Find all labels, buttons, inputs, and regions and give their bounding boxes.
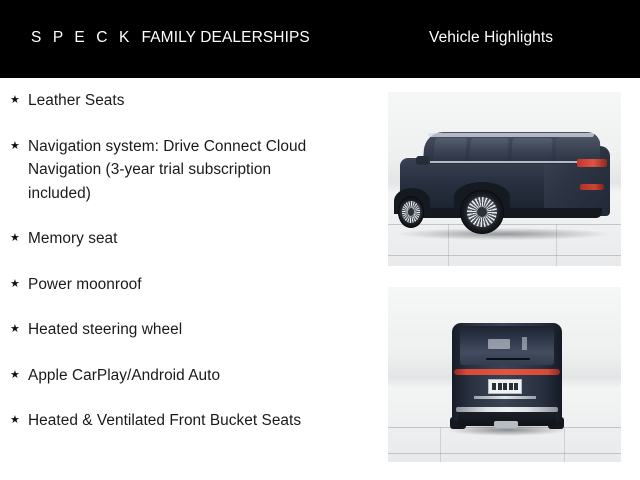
star-bullet-icon: ★ [10, 227, 28, 249]
taillight [577, 159, 607, 167]
suv-rear-three-quarter-illustration [394, 128, 616, 246]
list-item: ★ Memory seat [0, 227, 380, 251]
plate-char [509, 383, 513, 390]
window-glass [511, 138, 552, 161]
suv-rear-illustration [444, 317, 570, 439]
feature-label: Leather Seats [28, 89, 338, 113]
page-title: Vehicle Highlights [429, 29, 553, 47]
chrome-trim [474, 396, 536, 399]
feature-label: Heated steering wheel [28, 318, 338, 342]
floor-line [388, 255, 621, 256]
floor-seam [440, 427, 441, 462]
list-item: ★ Leather Seats [0, 89, 380, 113]
header-bar: S P E C K FAMILY DEALERSHIPS Vehicle Hig… [0, 0, 640, 78]
plate-char [498, 383, 502, 390]
window-glass [469, 138, 509, 161]
floor-line [388, 453, 621, 454]
vehicle-photo-rear-three-quarter[interactable] [388, 92, 621, 266]
glass-reflection [522, 337, 527, 350]
vehicle-photo-rear[interactable] [388, 287, 621, 462]
plate-char [503, 383, 507, 390]
list-item: ★ Navigation system: Drive Connect Cloud… [0, 135, 380, 206]
list-item: ★ Apple CarPlay/Android Auto [0, 364, 380, 388]
list-item: ★ Power moonroof [0, 273, 380, 297]
star-bullet-icon: ★ [10, 273, 28, 295]
star-bullet-icon: ★ [10, 364, 28, 386]
rear-wheel [460, 190, 504, 234]
plate-char [492, 383, 496, 390]
star-bullet-icon: ★ [10, 409, 28, 431]
rear-wiper [486, 358, 530, 360]
lower-taillight [580, 184, 604, 190]
feature-label: Heated & Ventilated Front Bucket Seats [28, 409, 338, 433]
vehicle-features-list: ★ Leather Seats ★ Navigation system: Dri… [0, 78, 380, 455]
wheel-hub [408, 208, 414, 216]
front-wheel [398, 196, 424, 228]
glass-reflection [488, 339, 510, 349]
window-glass [433, 138, 468, 161]
star-bullet-icon: ★ [10, 135, 28, 157]
feature-label: Memory seat [28, 227, 338, 251]
license-plate [488, 379, 522, 394]
star-bullet-icon: ★ [10, 89, 28, 111]
vehicle-shadow [398, 228, 608, 240]
side-mirror [416, 156, 429, 165]
star-bullet-icon: ★ [10, 318, 28, 340]
plate-char [514, 383, 518, 390]
feature-label: Apple CarPlay/Android Auto [28, 364, 338, 388]
trailer-hitch [494, 421, 518, 428]
brand-mark-text: S P E C K [31, 29, 133, 46]
brand-title: S P E C K FAMILY DEALERSHIPS [31, 29, 310, 47]
list-item: ★ Heated steering wheel [0, 318, 380, 342]
brand-name-text: FAMILY DEALERSHIPS [142, 29, 310, 46]
feature-label: Power moonroof [28, 273, 338, 297]
feature-label: Navigation system: Drive Connect Cloud N… [28, 135, 338, 206]
list-item: ★ Heated & Ventilated Front Bucket Seats [0, 409, 380, 433]
